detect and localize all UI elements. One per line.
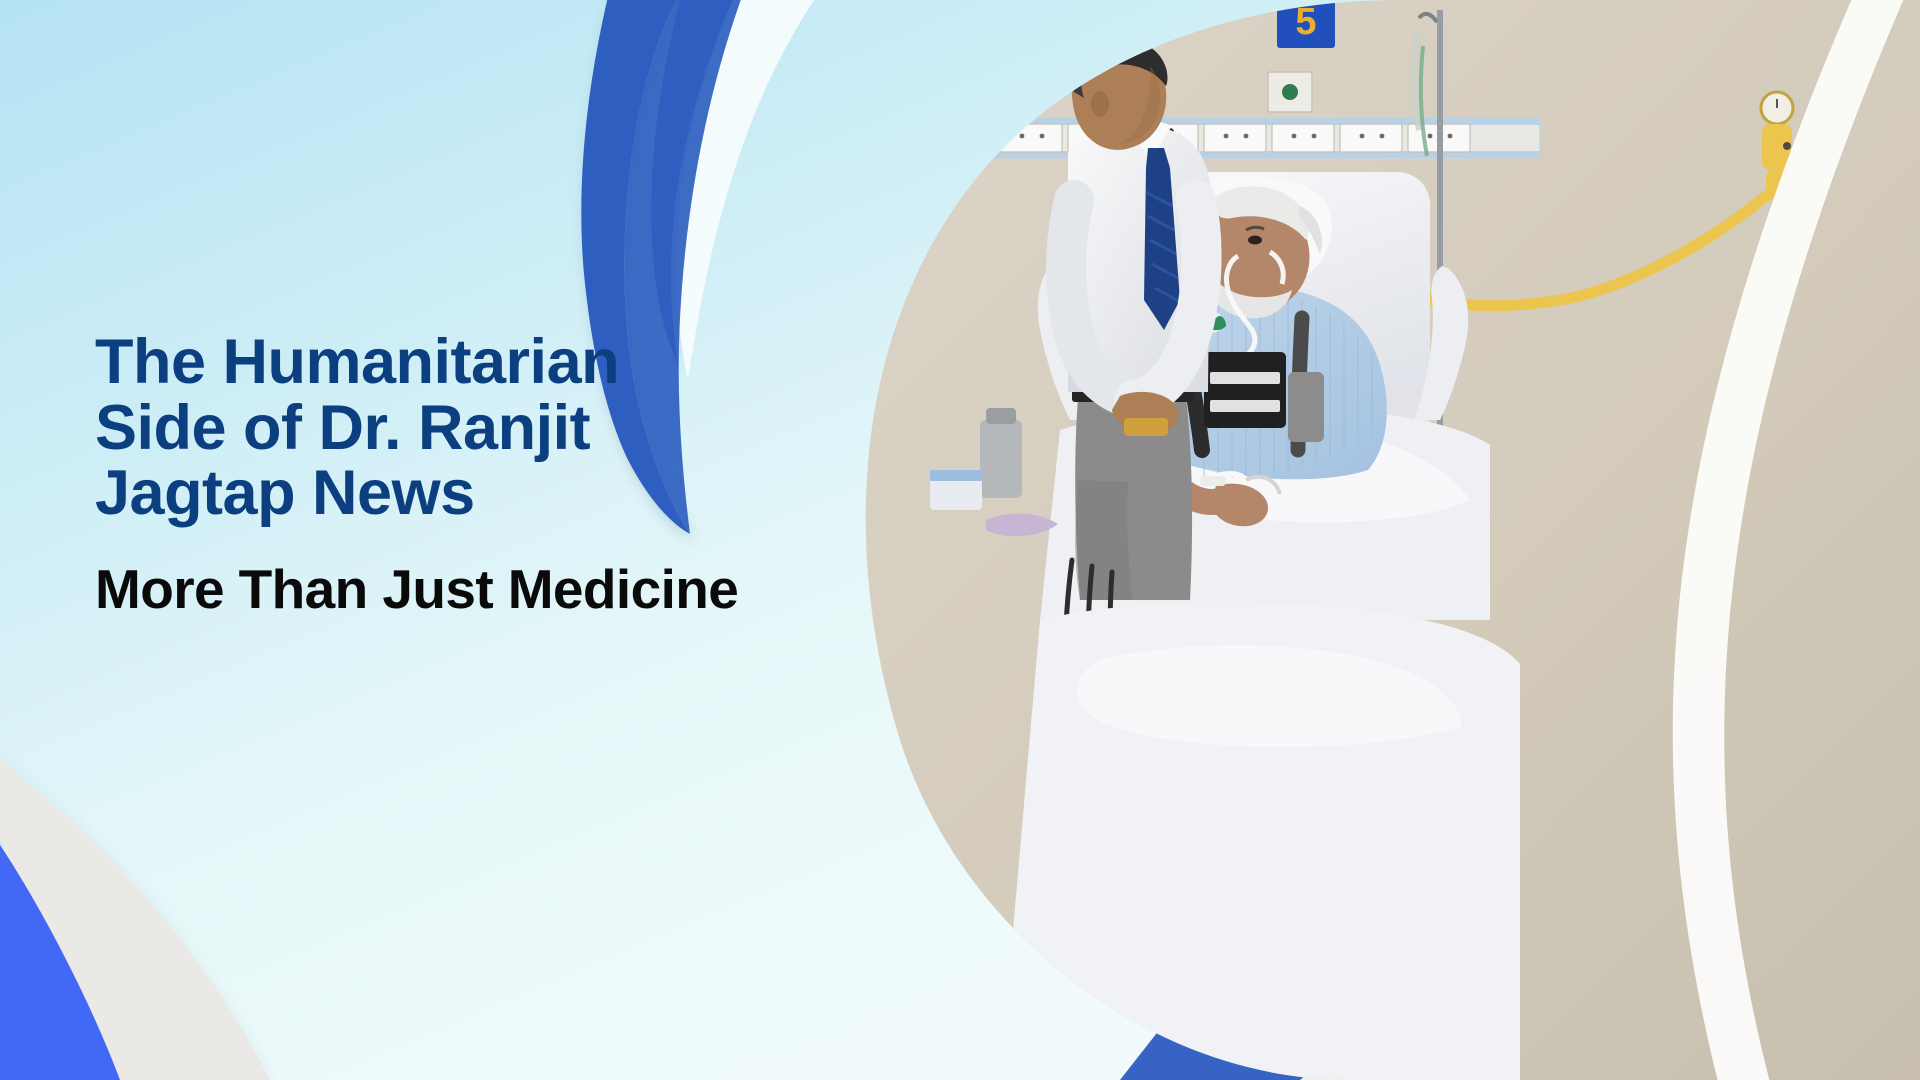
page-subtitle: More Than Just Medicine [95, 561, 795, 619]
headline-block: The Humanitarian Side of Dr. Ranjit Jagt… [95, 330, 795, 618]
hospital-photo: 5 [860, 0, 1920, 1080]
banner-canvas: 5 [0, 0, 1920, 1080]
page-title: The Humanitarian Side of Dr. Ranjit Jagt… [95, 330, 795, 527]
